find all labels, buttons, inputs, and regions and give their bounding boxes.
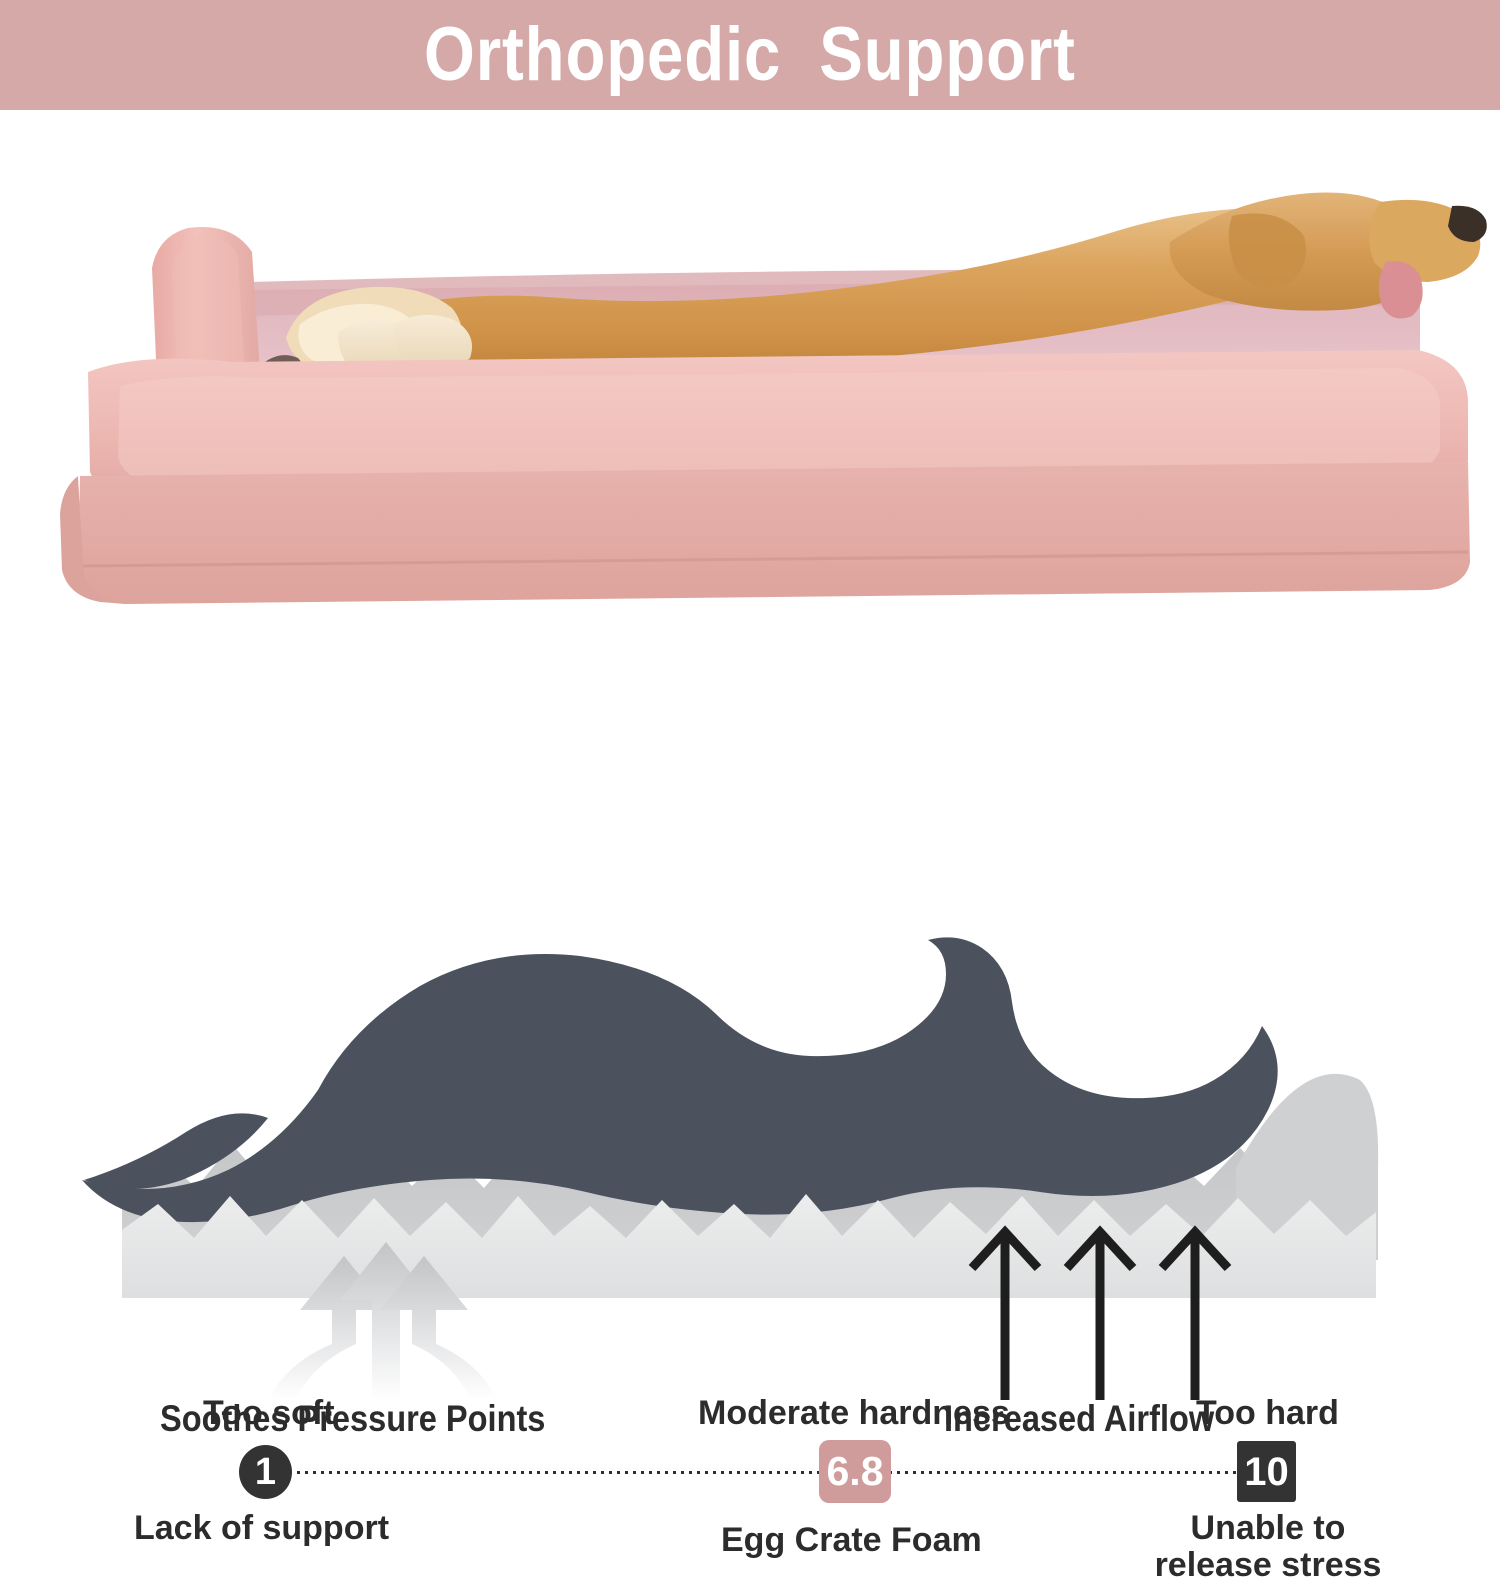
caption-increased-airflow: Increased Airflow — [944, 1400, 1214, 1437]
scale-badge-6-8: 6.8 — [819, 1440, 891, 1503]
bed-base — [60, 462, 1470, 604]
scale-label-egg-crate-foam: Egg Crate Foam — [721, 1522, 982, 1559]
product-photo-illustration — [0, 110, 1500, 670]
page-title: Orthopedic Support — [424, 17, 1076, 93]
hardness-scale-dotted-line — [265, 1471, 1240, 1474]
foam-diagram-illustration — [0, 930, 1500, 1400]
header-banner: Orthopedic Support — [0, 0, 1500, 110]
scale-label-unable-to-release-stress: Unable to release stress — [1148, 1510, 1388, 1583]
scale-badge-10: 10 — [1237, 1441, 1296, 1502]
scale-label-lack-of-support: Lack of support — [134, 1510, 389, 1547]
hardness-scale: Too soft 1 Lack of support Moderate hard… — [0, 690, 1500, 920]
scale-badge-1: 1 — [239, 1445, 292, 1499]
product-photo — [0, 110, 1500, 670]
scale-label-too-hard: Too hard — [1196, 1395, 1339, 1432]
dog-silhouette — [82, 937, 1278, 1222]
caption-soothes-pressure-points: Soothes Pressure Points — [160, 1400, 545, 1437]
foam-diagram — [0, 930, 1500, 1400]
